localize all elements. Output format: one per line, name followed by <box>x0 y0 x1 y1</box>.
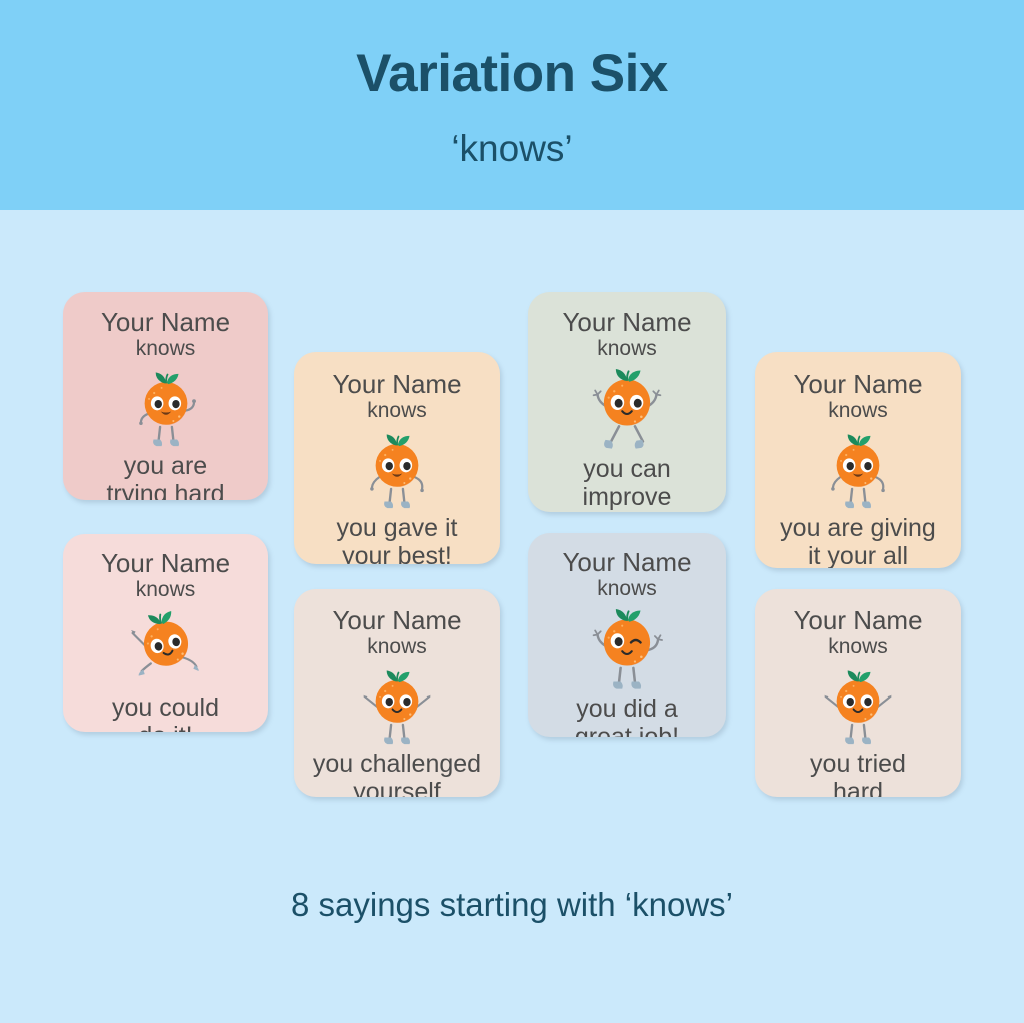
card-name-line: Your Name <box>101 309 230 335</box>
card-can-improve[interactable]: Your Nameknowsyou can improve <box>528 292 726 512</box>
card-name-line: Your Name <box>332 371 461 397</box>
orange-mascot-icon <box>360 427 434 514</box>
card-saying-text: you can improve <box>583 455 672 511</box>
orange-mascot-icon <box>587 361 667 455</box>
card-saying-text: you are trying hard <box>106 452 224 500</box>
card-name-line: Your Name <box>562 549 691 575</box>
poster-canvas: Variation Six ‘knows’ Your Nameknowsyou … <box>0 0 1024 1023</box>
orange-mascot-icon <box>128 604 204 694</box>
orange-mascot-icon <box>360 663 434 750</box>
card-name-line: Your Name <box>101 550 230 576</box>
card-saying-text: you are giving it your all <box>780 514 936 568</box>
footer-caption: 8 sayings starting with ‘knows’ <box>0 886 1024 924</box>
card-giving-all[interactable]: Your Nameknowsyou are giving it your all <box>755 352 961 568</box>
card-verb-line: knows <box>828 400 888 421</box>
card-name-line: Your Name <box>332 607 461 633</box>
card-saying-text: you challenged yourself <box>313 750 481 797</box>
orange-mascot-icon <box>821 427 895 514</box>
card-name-line: Your Name <box>562 309 691 335</box>
page-subtitle: ‘knows’ <box>0 128 1024 170</box>
card-challenged-yourself[interactable]: Your Nameknowsyou challenged yourself <box>294 589 500 797</box>
card-name-line: Your Name <box>793 371 922 397</box>
card-saying-text: you did a great job! <box>575 695 679 737</box>
page-title: Variation Six <box>0 46 1024 102</box>
card-verb-line: knows <box>136 579 196 600</box>
orange-mascot-icon <box>129 365 203 452</box>
card-trying-hard[interactable]: Your Nameknowsyou are trying hard <box>63 292 268 500</box>
card-verb-line: knows <box>367 636 427 657</box>
orange-mascot-icon <box>587 601 667 695</box>
card-verb-line: knows <box>597 338 657 359</box>
card-tried-hard[interactable]: Your Nameknowsyou tried hard <box>755 589 961 797</box>
card-saying-text: you tried hard <box>810 750 906 797</box>
card-gave-best[interactable]: Your Nameknowsyou gave it your best! <box>294 352 500 564</box>
card-verb-line: knows <box>136 338 196 359</box>
card-verb-line: knows <box>597 578 657 599</box>
card-name-line: Your Name <box>793 607 922 633</box>
card-great-job[interactable]: Your Nameknowsyou did a great job! <box>528 533 726 737</box>
card-verb-line: knows <box>367 400 427 421</box>
card-could-do-it[interactable]: Your Nameknowsyou could do it! <box>63 534 268 732</box>
card-verb-line: knows <box>828 636 888 657</box>
header-band: Variation Six ‘knows’ <box>0 0 1024 210</box>
card-saying-text: you gave it your best! <box>337 514 458 564</box>
card-saying-text: you could do it! <box>112 694 219 732</box>
orange-mascot-icon <box>821 663 895 750</box>
